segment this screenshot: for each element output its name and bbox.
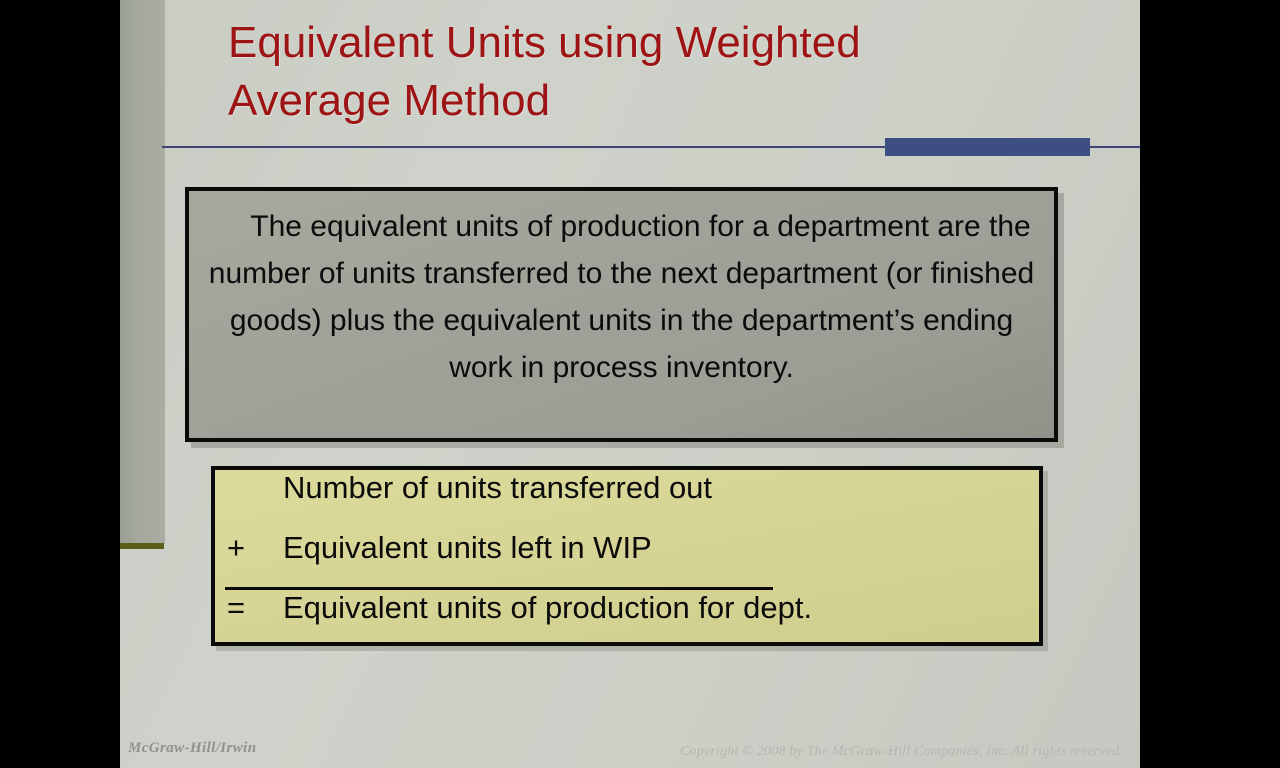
left-decorative-band	[120, 0, 165, 544]
left-band-accent-bar	[120, 543, 164, 549]
footer-brand: McGraw-Hill/Irwin	[128, 740, 257, 757]
formula-label: Equivalent units left in WIP	[283, 530, 652, 566]
formula-row: = Equivalent units of production for dep…	[215, 590, 1039, 650]
title-line-2: Average Method	[228, 72, 1058, 130]
formula-box: Number of units transferred out + Equiva…	[211, 466, 1043, 646]
slide-title: Equivalent Units using Weighted Average …	[228, 14, 1058, 130]
definition-body: The equivalent units of production for a…	[209, 210, 1034, 384]
formula-row: Number of units transferred out	[215, 470, 1039, 530]
slide-canvas: Equivalent Units using Weighted Average …	[120, 0, 1140, 768]
formula-operator: +	[225, 530, 283, 566]
title-divider-accent	[885, 138, 1090, 156]
formula-row: + Equivalent units left in WIP	[225, 530, 773, 590]
slide-root: Equivalent Units using Weighted Average …	[0, 0, 1280, 768]
title-line-1: Equivalent Units using Weighted	[228, 14, 1058, 72]
definition-box: The equivalent units of production for a…	[185, 187, 1058, 442]
formula-label: Equivalent units of production for dept.	[283, 590, 812, 626]
definition-box-text: The equivalent units of production for a…	[189, 191, 1054, 391]
footer-copyright: Copyright © 2008 by The McGraw-Hill Comp…	[680, 744, 1123, 760]
formula-operator: =	[225, 590, 283, 626]
formula-label: Number of units transferred out	[283, 470, 712, 506]
